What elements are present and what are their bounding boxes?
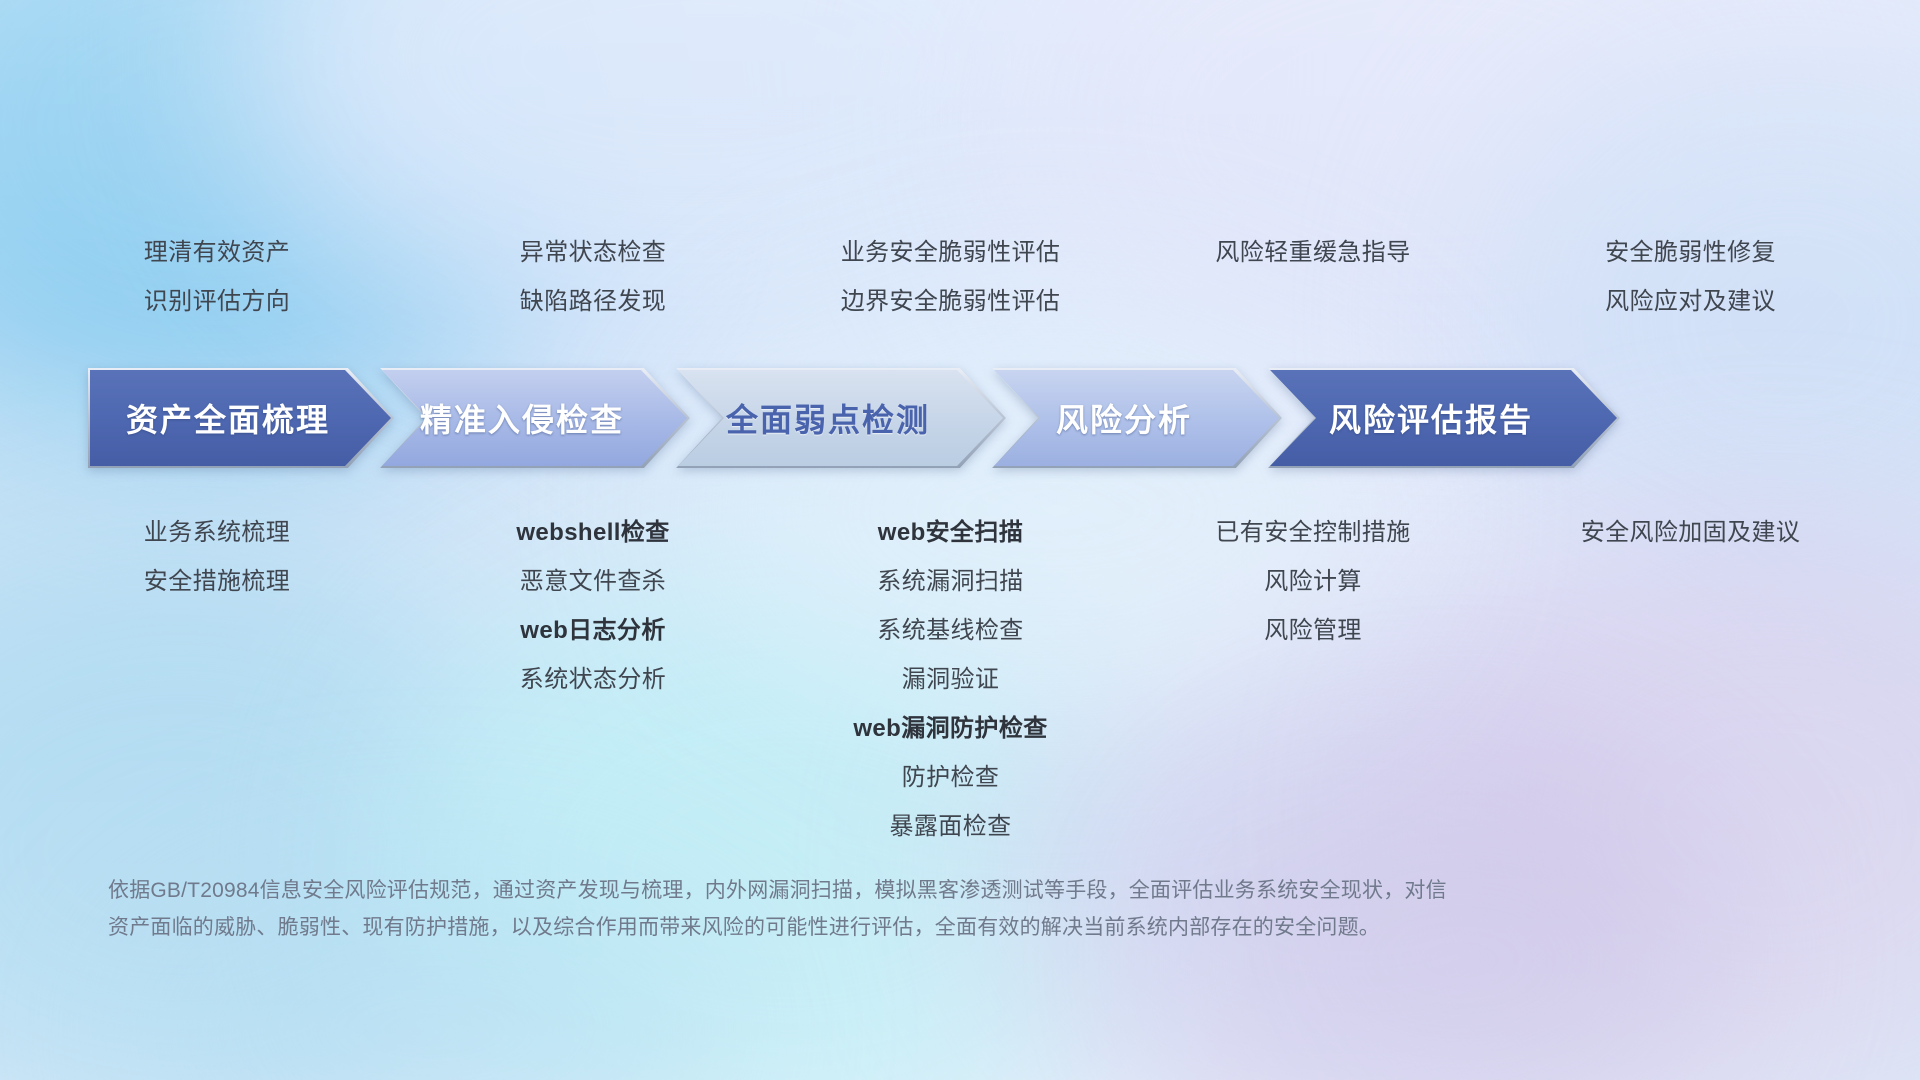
top-caption-item: 理清有效资产 <box>144 228 290 277</box>
bottom-captions-stage-1: 业务系统梳理 安全措施梳理 <box>22 508 412 606</box>
bottom-caption-item: 风险计算 <box>1264 557 1362 606</box>
bottom-caption-item: 风险管理 <box>1264 606 1362 655</box>
footer-line: 资产面临的威胁、脆弱性、现有防护措施，以及综合作用而带来风险的可能性进行评估，全… <box>108 909 1638 946</box>
chevron-stage-2[interactable]: 精准入侵检查 <box>380 368 690 468</box>
bottom-caption-item: 系统漏洞扫描 <box>877 557 1023 606</box>
top-caption-row: 理清有效资产 识别评估方向 异常状态检查 缺陷路径发现 业务安全脆弱性评估 边界… <box>0 228 1920 326</box>
footer-line: 依据GB/T20984信息安全风险评估规范，通过资产发现与梳理，内外网漏洞扫描，… <box>108 872 1638 909</box>
bottom-caption-item: web漏洞防护检查 <box>853 704 1047 753</box>
chevron-label: 风险评估报告 <box>1268 395 1620 441</box>
bottom-caption-item: 安全风险加固及建议 <box>1581 508 1801 557</box>
chevron-label: 风险分析 <box>992 395 1282 441</box>
chevron-track: 资产全面梳理 精准入侵检查 全面弱点检测 风险分析 <box>0 368 1920 470</box>
top-caption-item: 边界安全脆弱性评估 <box>841 277 1061 326</box>
top-caption-item: 缺陷路径发现 <box>520 277 666 326</box>
chevron-label: 资产全面梳理 <box>88 395 394 441</box>
process-diagram: 理清有效资产 识别评估方向 异常状态检查 缺陷路径发现 业务安全脆弱性评估 边界… <box>0 0 1920 1080</box>
top-caption-item: 风险应对及建议 <box>1605 277 1776 326</box>
top-caption-item: 风险轻重缓急指导 <box>1215 228 1410 277</box>
bottom-caption-item: 漏洞验证 <box>902 655 1000 704</box>
bottom-caption-row: 业务系统梳理 安全措施梳理 webshell检查 恶意文件查杀 web日志分析 … <box>0 508 1920 851</box>
chevron-stage-4[interactable]: 风险分析 <box>992 368 1282 468</box>
top-captions-stage-5: 安全脆弱性修复 风险应对及建议 <box>1493 228 1888 326</box>
bottom-caption-item: 恶意文件查杀 <box>520 557 666 606</box>
chevron-label: 全面弱点检测 <box>676 395 1006 441</box>
bottom-caption-item: 安全措施梳理 <box>144 557 290 606</box>
top-captions-stage-4: 风险轻重缓急指导 <box>1153 228 1473 326</box>
top-captions-stage-2: 异常状态检查 缺陷路径发现 <box>418 228 768 326</box>
top-caption-item: 安全脆弱性修复 <box>1605 228 1776 277</box>
top-captions-stage-1: 理清有效资产 识别评估方向 <box>22 228 412 326</box>
bottom-captions-stage-4: 已有安全控制措施 风险计算 风险管理 <box>1153 508 1473 655</box>
bottom-caption-item: 系统基线检查 <box>877 606 1023 655</box>
bottom-caption-item: 防护检查 <box>902 753 1000 802</box>
top-captions-stage-3: 业务安全脆弱性评估 边界安全脆弱性评估 <box>778 228 1123 326</box>
bottom-caption-item: 业务系统梳理 <box>144 508 290 557</box>
bottom-captions-stage-2: webshell检查 恶意文件查杀 web日志分析 系统状态分析 <box>418 508 768 704</box>
footer-description: 依据GB/T20984信息安全风险评估规范，通过资产发现与梳理，内外网漏洞扫描，… <box>108 872 1638 946</box>
bottom-caption-item: 暴露面检查 <box>890 802 1012 851</box>
bottom-caption-item: 已有安全控制措施 <box>1215 508 1410 557</box>
bottom-caption-item: web安全扫描 <box>878 508 1023 557</box>
chevron-label: 精准入侵检查 <box>380 395 690 441</box>
chevron-stage-1[interactable]: 资产全面梳理 <box>88 368 394 468</box>
bottom-captions-stage-3: web安全扫描 系统漏洞扫描 系统基线检查 漏洞验证 web漏洞防护检查 防护检… <box>778 508 1123 851</box>
chevron-stage-5[interactable]: 风险评估报告 <box>1268 368 1620 468</box>
top-caption-item: 业务安全脆弱性评估 <box>841 228 1061 277</box>
bottom-caption-item: webshell检查 <box>516 508 669 557</box>
top-caption-item: 异常状态检查 <box>520 228 666 277</box>
chevron-stage-3[interactable]: 全面弱点检测 <box>676 368 1006 468</box>
bottom-caption-item: 系统状态分析 <box>520 655 666 704</box>
bottom-caption-item: web日志分析 <box>520 606 665 655</box>
top-caption-item: 识别评估方向 <box>144 277 290 326</box>
bottom-captions-stage-5: 安全风险加固及建议 <box>1493 508 1888 557</box>
